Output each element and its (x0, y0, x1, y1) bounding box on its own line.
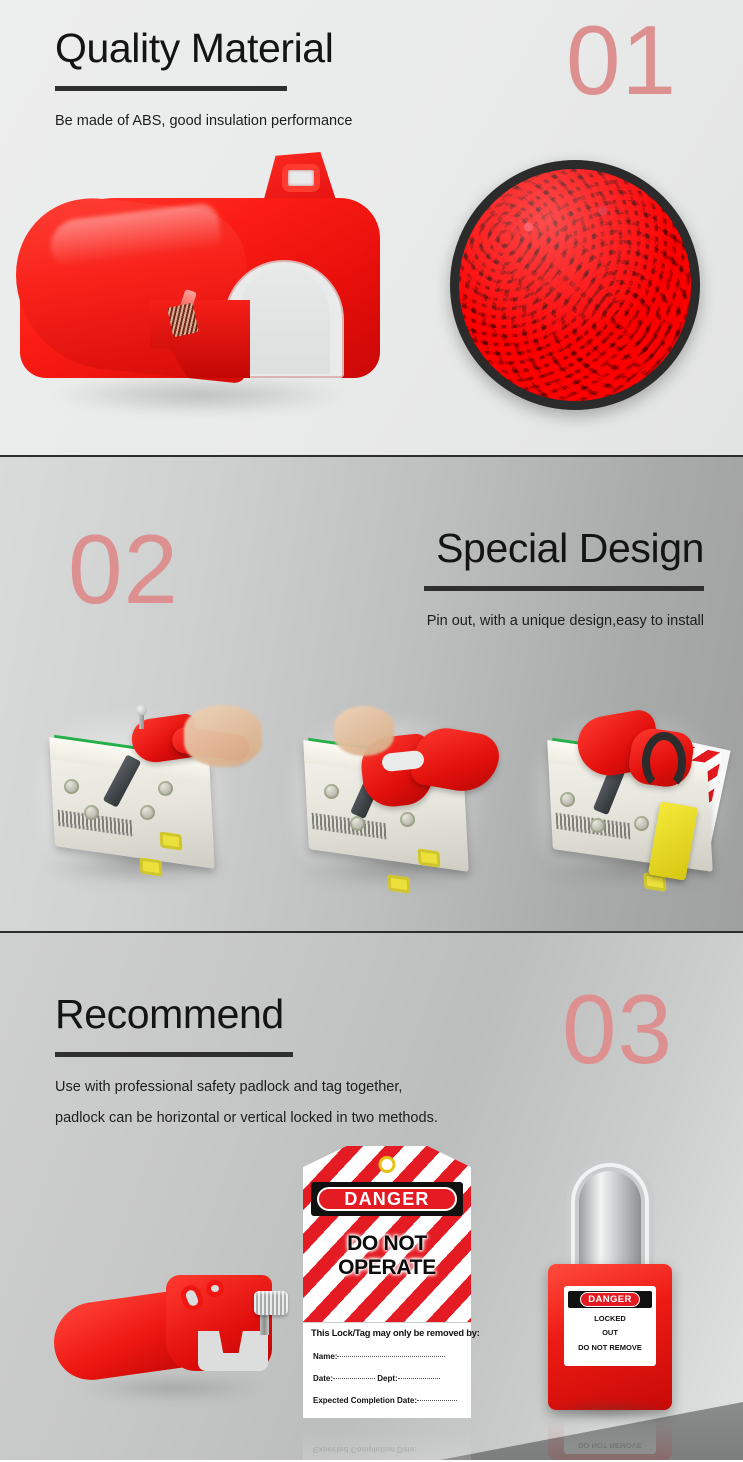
breaker-screw (158, 781, 173, 796)
pellets-specular (459, 169, 691, 401)
device-jaw-inner (238, 268, 330, 374)
device-tab-hole (282, 164, 320, 192)
breaker-screw (64, 779, 79, 794)
section-quality-material: Quality Material Be made of ABS, good in… (0, 0, 743, 455)
breaker-screw (634, 816, 649, 831)
breaker-terminal (140, 857, 163, 876)
device-shadow (50, 375, 350, 415)
padlock-shackle (642, 732, 686, 792)
breaker-terminal (160, 831, 183, 850)
padlock-line-2: OUT (568, 1326, 652, 1340)
tag-field-expected-label: Expected Completion Date: (313, 1396, 417, 1405)
section-2-subtitle: Pin out, with a unique design,easy to in… (424, 608, 704, 635)
section-3-title: Recommend (55, 993, 438, 1036)
image-breaker-lockout-device (10, 150, 390, 435)
thumb-screw-knob (254, 1291, 288, 1315)
image-danger-tag: DANGER DO NOT OPERATE This Lock/Tag may … (303, 1146, 471, 1418)
image-safety-padlock: DANGER LOCKED OUT DO NOT REMOVE (540, 1158, 680, 1418)
breaker-screw (140, 805, 155, 820)
tag-danger-banner: DANGER (311, 1182, 463, 1216)
hand (334, 706, 394, 756)
breaker-screw (560, 792, 575, 807)
section-2-title: Special Design (424, 527, 704, 570)
padlock-line-3: DO NOT REMOVE (568, 1341, 652, 1355)
tag-field-date-dept: Date: Dept: (313, 1374, 463, 1383)
tag-field-expected: Expected Completion Date: (313, 1396, 463, 1405)
section-3-subtitle-line-1: Use with professional safety padlock and… (55, 1074, 438, 1101)
section-divider-1 (0, 455, 743, 457)
tag-field-dept-label: Dept: (377, 1374, 397, 1383)
padlock-shackle-highlight (571, 1163, 649, 1271)
section-3-heading-block: Recommend Use with professional safety p… (55, 993, 438, 1132)
device-hole-round (206, 1280, 224, 1297)
padlock-shadow (544, 1402, 676, 1418)
padlock-label: DANGER LOCKED OUT DO NOT REMOVE (564, 1286, 656, 1366)
section-2-number: 02 (68, 520, 179, 618)
tag-headline-line-2: OPERATE (303, 1256, 471, 1280)
image-breaker-step-1 (18, 697, 258, 912)
image-breaker-step-3 (516, 700, 743, 915)
section-1-underline (55, 86, 287, 91)
breaker-screw (324, 784, 339, 799)
hand (184, 705, 262, 767)
tag-danger-text: DANGER (344, 1189, 429, 1210)
device-shadow (78, 1375, 268, 1401)
thumb-screw-shaft (139, 715, 144, 729)
tag-field-expected-line (417, 1400, 457, 1401)
section-1-title: Quality Material (55, 27, 352, 70)
section-1-subtitle: Be made of ABS, good insulation performa… (55, 108, 352, 135)
tag-grommet-hole (379, 1156, 396, 1173)
tag-field-name-line (337, 1356, 445, 1357)
breaker-terminal (418, 848, 441, 867)
padlock-danger-text: DANGER (580, 1292, 640, 1307)
tag-field-dept-line (398, 1378, 440, 1379)
section-3-number: 03 (562, 980, 673, 1078)
image-abs-pellets (450, 160, 700, 410)
section-3-subtitle-line-2: padlock can be horizontal or vertical lo… (55, 1105, 438, 1132)
image-lockout-device-side (48, 1235, 298, 1420)
breaker-screw (84, 805, 99, 820)
tag-field-name: Name: (313, 1352, 463, 1361)
padlock-danger-banner: DANGER (568, 1291, 652, 1308)
product-feature-page: Quality Material Be made of ABS, good in… (0, 0, 743, 1460)
tag-field-date-line (333, 1378, 375, 1379)
tag-headline: DO NOT OPERATE (303, 1232, 471, 1279)
section-1-number: 01 (566, 11, 677, 109)
tag-removed-by-text: This Lock/Tag may only be removed by: (311, 1328, 463, 1338)
tag-danger-pill: DANGER (317, 1187, 457, 1211)
section-1-heading-block: Quality Material Be made of ABS, good in… (55, 27, 352, 135)
breaker-screw (400, 812, 415, 827)
tag-headline-line-1: DO NOT (303, 1232, 471, 1256)
section-2-heading-block: Special Design Pin out, with a unique de… (424, 527, 704, 635)
tag-field-date-label: Date: (313, 1374, 333, 1383)
thumb-screw-shaft (260, 1313, 269, 1335)
image-breaker-step-2 (272, 700, 512, 915)
section-2-underline (424, 586, 704, 591)
padlock-line-1: LOCKED (568, 1312, 652, 1326)
section-divider-2 (0, 931, 743, 933)
tag-field-name-label: Name: (313, 1352, 337, 1361)
breaker-screw (590, 818, 605, 833)
section-3-underline (55, 1052, 293, 1057)
breaker-terminal (388, 874, 411, 893)
